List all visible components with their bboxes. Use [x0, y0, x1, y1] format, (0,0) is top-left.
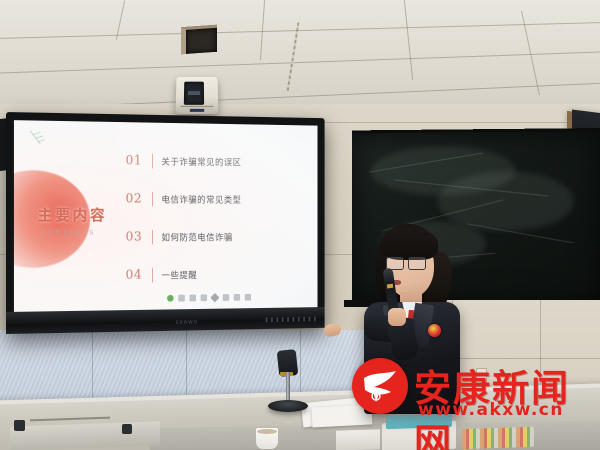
grid-icon[interactable] — [178, 295, 185, 302]
emblem-badge — [428, 324, 441, 337]
bezel-indicator-lights — [266, 317, 318, 323]
whiteboard-brand-logo: seewo — [175, 319, 197, 326]
desk-tray — [10, 421, 160, 450]
select-icon[interactable] — [234, 294, 240, 301]
agenda-text: 如何防范电信诈骗 — [161, 231, 232, 244]
agenda-divider — [152, 192, 153, 207]
cursor-icon[interactable] — [189, 295, 196, 302]
glasses-icon — [386, 257, 426, 268]
agenda-number: 02 — [126, 192, 151, 207]
list-item: 04 一些提醒 — [126, 255, 301, 294]
list-item: 01 关于诈骗常见的误区 — [126, 142, 301, 182]
agenda-divider — [152, 154, 153, 169]
eraser-icon[interactable] — [210, 293, 219, 303]
agenda-text: 一些提醒 — [161, 268, 197, 281]
microphone-base — [268, 400, 308, 412]
desk-knob — [122, 424, 132, 434]
watermark: 安康新闻网 www.akxw.cn — [352, 356, 598, 420]
bird-icon — [352, 358, 408, 414]
agenda-text: 电信诈骗的常见类型 — [161, 193, 241, 206]
pen-icon[interactable] — [201, 294, 207, 301]
hair-fringe — [380, 228, 438, 260]
shape-icon[interactable] — [223, 294, 229, 301]
microphone-hand — [388, 308, 406, 326]
list-item: 03 如何防范电信诈骗 — [126, 218, 301, 256]
agenda-number: 01 — [126, 153, 151, 168]
presentation-slide: 主要内容 CONTENTS 01 关于诈骗常见的误区 02 电信诈骗的常见类型 … — [14, 120, 318, 312]
projector-lens-icon — [184, 82, 204, 105]
agenda-number: 04 — [126, 268, 151, 283]
whiteboard-toolbar[interactable] — [163, 292, 254, 304]
slide-section-title: 主要内容 — [38, 204, 108, 225]
projector — [175, 77, 218, 114]
watermark-url: www.akxw.cn — [418, 400, 564, 420]
agenda-number: 03 — [126, 230, 151, 245]
pointing-hand — [323, 323, 342, 338]
watermark-logo-icon — [352, 358, 408, 414]
desk-knob — [14, 420, 25, 431]
agenda-divider — [152, 230, 153, 245]
whiteboard-screen[interactable]: 主要内容 CONTENTS 01 关于诈骗常见的误区 02 电信诈骗的常见类型 … — [14, 120, 318, 312]
white-box-left — [336, 429, 380, 450]
projector-base — [181, 106, 214, 114]
list-item: 02 电信诈骗的常见类型 — [126, 180, 301, 218]
screenshot-root: 主要内容 CONTENTS 01 关于诈骗常见的误区 02 电信诈骗的常见类型 … — [0, 0, 600, 450]
interactive-whiteboard[interactable]: 主要内容 CONTENTS 01 关于诈骗常见的误区 02 电信诈骗的常见类型 … — [6, 112, 325, 334]
cup — [256, 428, 278, 449]
ceiling-wire — [287, 22, 300, 91]
palette-icon[interactable] — [167, 295, 174, 302]
agenda-divider — [152, 268, 153, 283]
ceiling-vent-icon — [181, 25, 217, 55]
trash-icon[interactable] — [245, 294, 251, 301]
agenda-text: 关于诈骗常见的误区 — [161, 155, 241, 168]
branch-leaf-icon — [28, 129, 50, 149]
slide-agenda-list: 01 关于诈骗常见的误区 02 电信诈骗的常见类型 03 如何防范电信诈骗 — [126, 142, 301, 295]
ceiling — [0, 0, 600, 118]
slide-section-subtitle: CONTENTS — [42, 230, 96, 237]
